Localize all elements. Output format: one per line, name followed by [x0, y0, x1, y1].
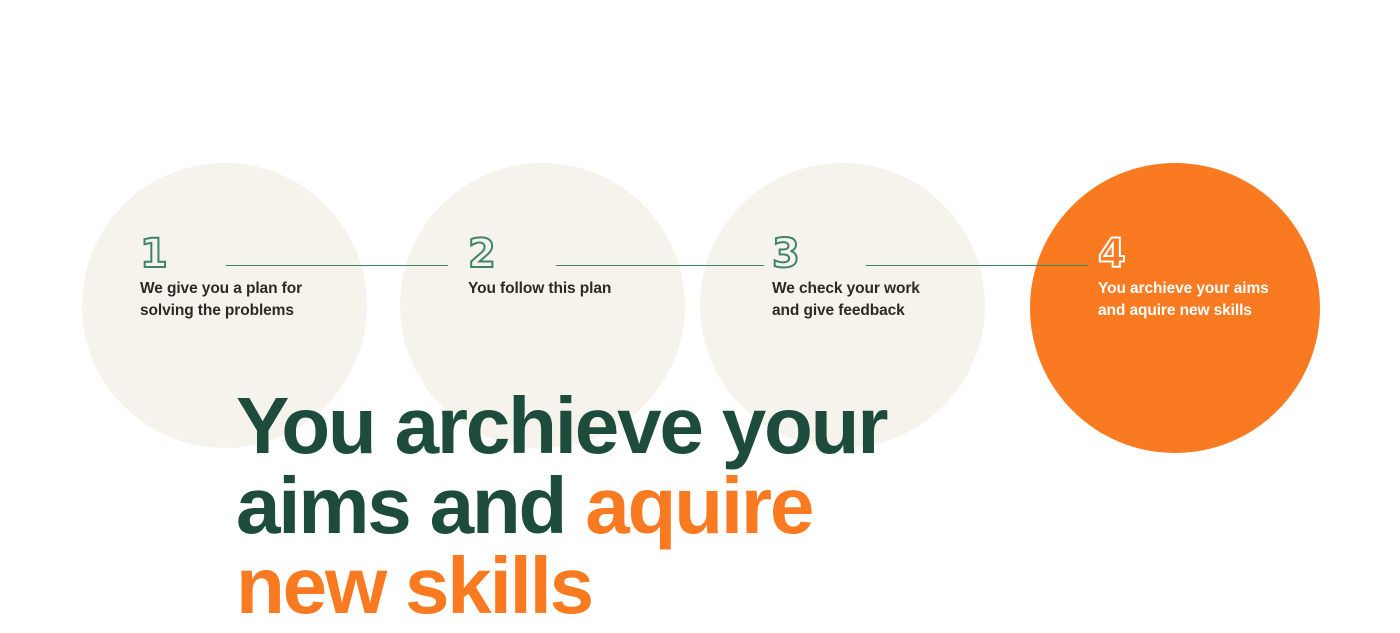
step-number-2: 2: [468, 232, 698, 276]
step-item-1: 1 We give you a plan for solving the pro…: [140, 232, 370, 322]
step-label-2: You follow this plan: [468, 278, 698, 300]
step-item-3: 3 We check your work and give feedback: [772, 232, 1002, 322]
step-item-2: 2 You follow this plan: [468, 232, 698, 300]
step-label-4: You archieve your aims and aquire new sk…: [1098, 278, 1328, 322]
headline-line-2-plain: aims and: [236, 461, 585, 550]
headline-line-2: aims and aquire: [236, 466, 1136, 546]
step-number-4: 4: [1098, 232, 1328, 276]
headline-accent-aquire: aquire: [585, 461, 812, 550]
step-label-1: We give you a plan for solving the probl…: [140, 278, 370, 322]
infographic-stage: 1 We give you a plan for solving the pro…: [0, 0, 1400, 633]
step-number-3: 3: [772, 232, 1002, 276]
step-number-1: 1: [140, 232, 370, 276]
page-headline: You archieve your aims and aquire new sk…: [236, 386, 1136, 626]
step-item-4: 4 You archieve your aims and aquire new …: [1098, 232, 1328, 322]
step-label-3: We check your work and give feedback: [772, 278, 1002, 322]
headline-line-1: You archieve your: [236, 386, 1136, 466]
headline-line-3: new skills: [236, 546, 1136, 626]
